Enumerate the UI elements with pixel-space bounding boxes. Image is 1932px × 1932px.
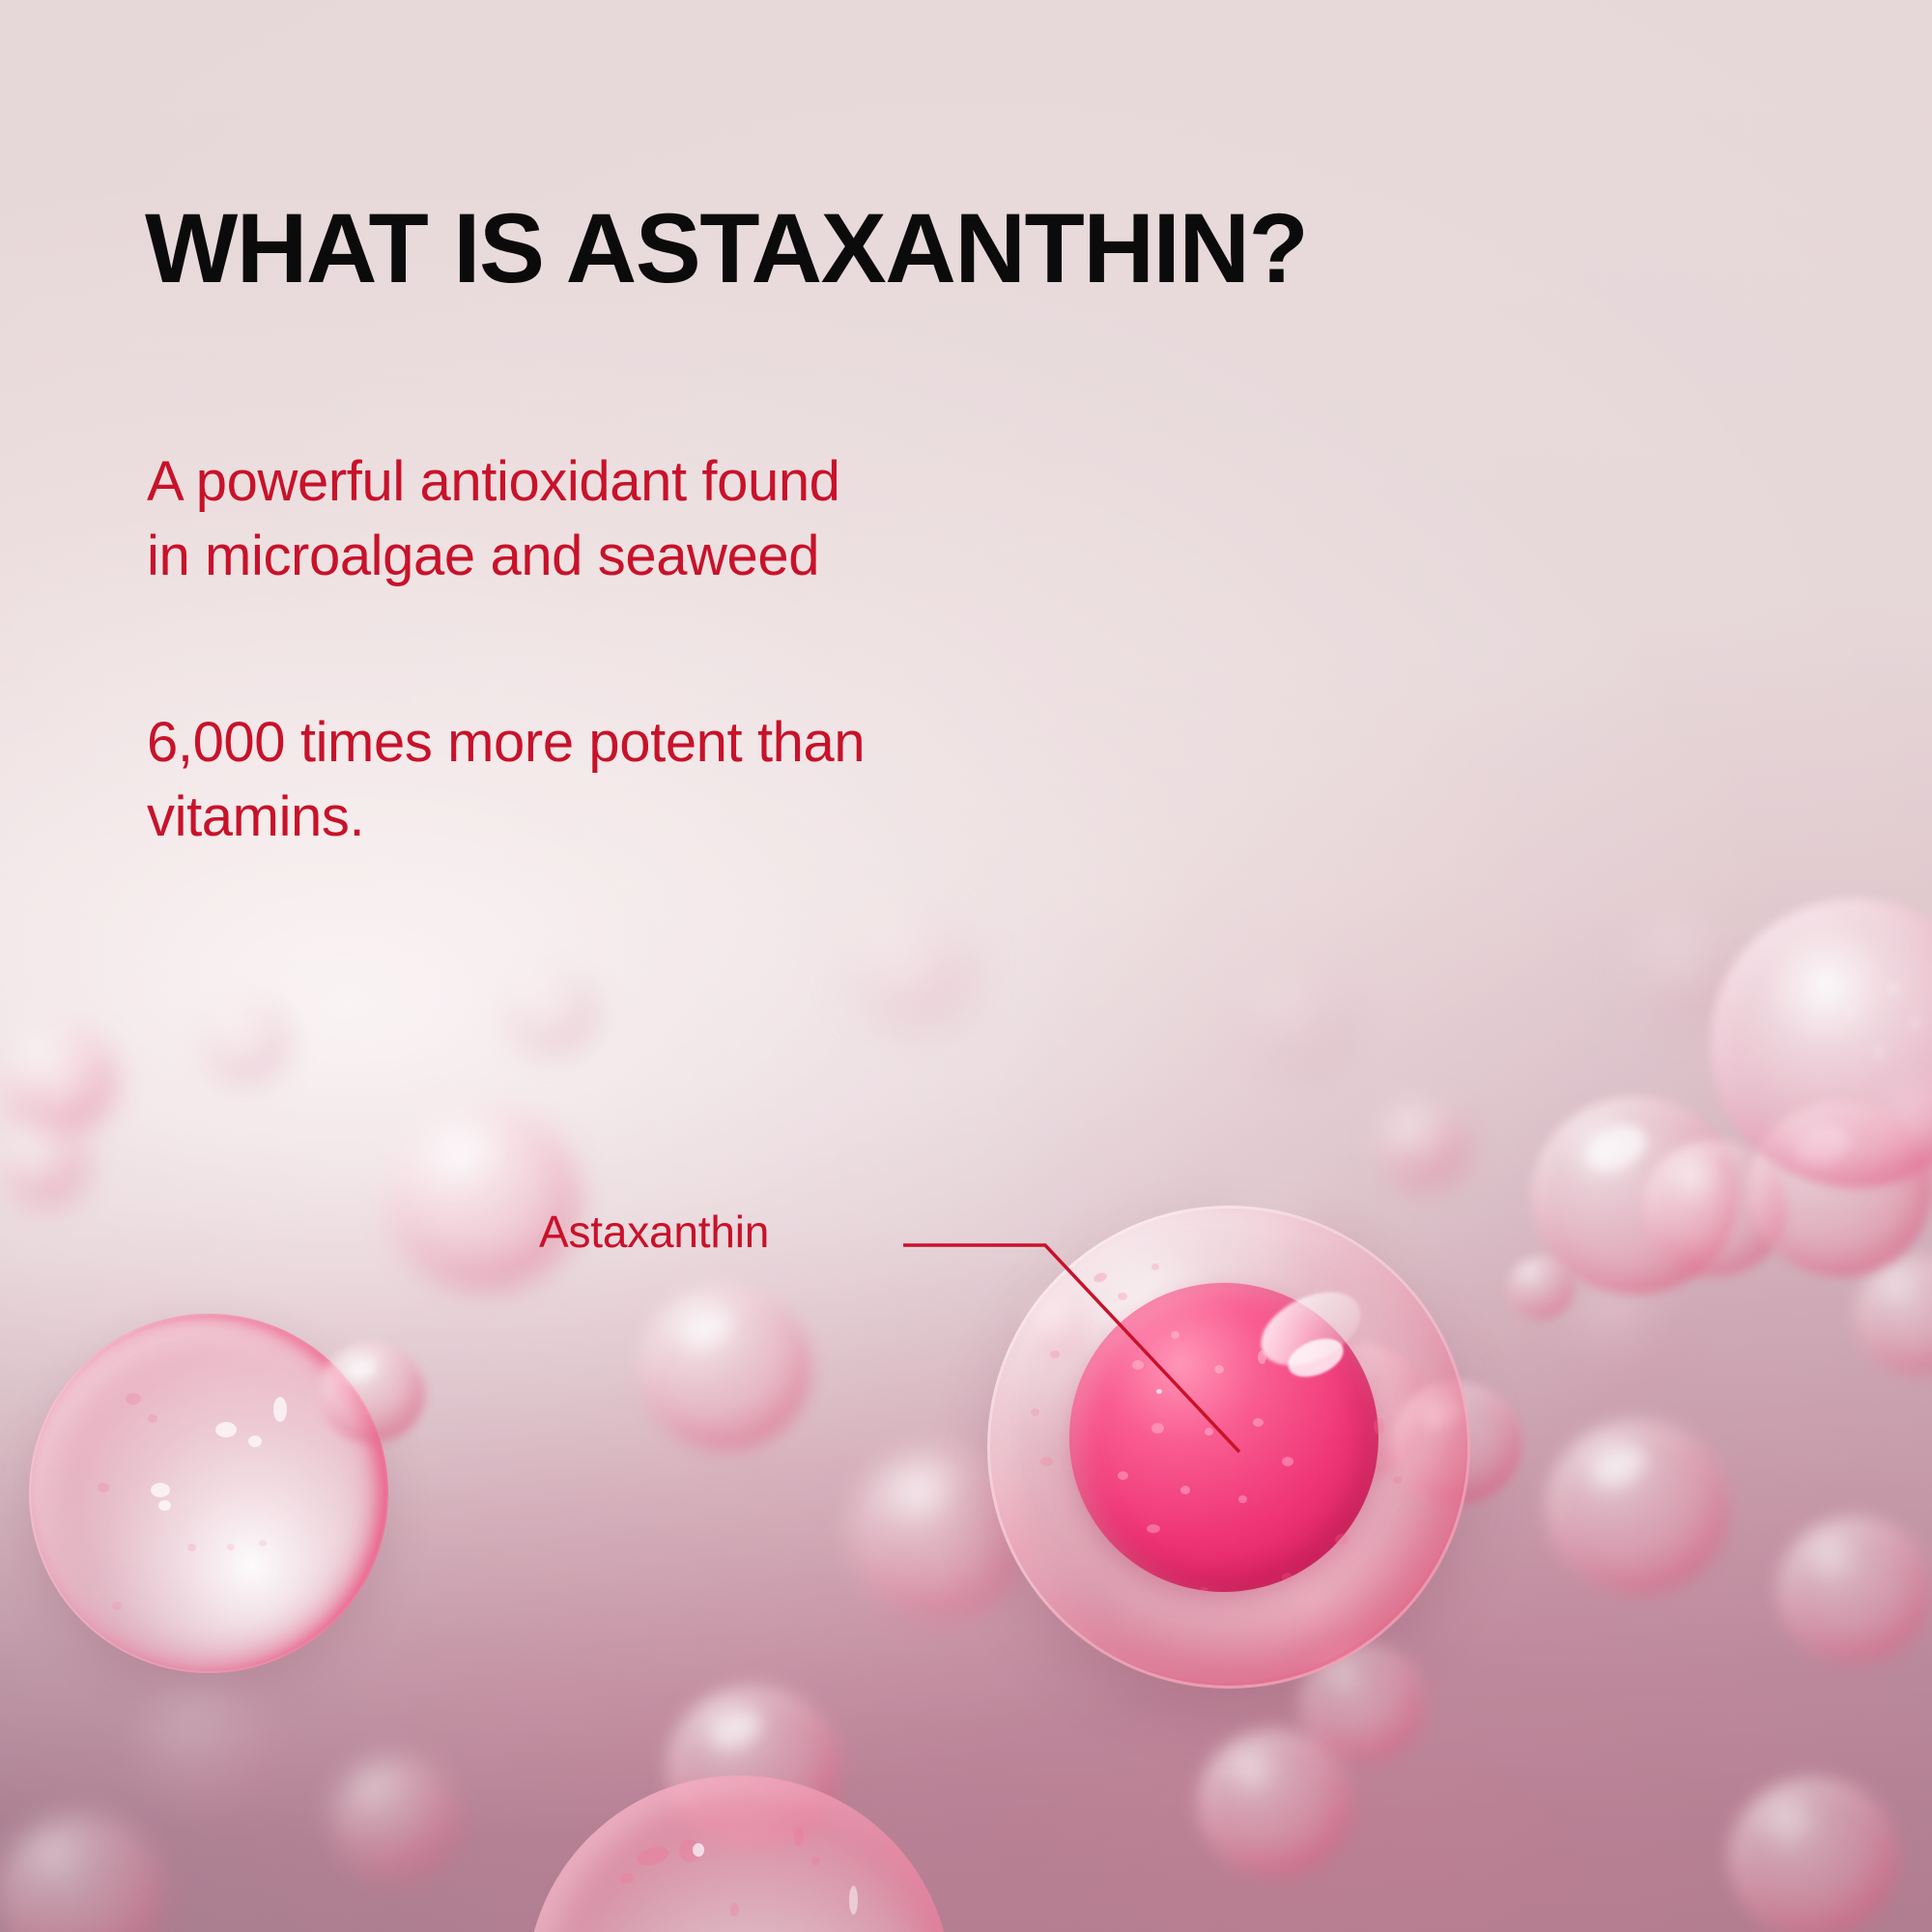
body-paragraph-1: A powerful antioxidant found in microalg… xyxy=(147,444,840,593)
infographic-card: WHAT IS ASTAXANTHIN? A powerful antioxid… xyxy=(0,0,1932,1932)
page-title: WHAT IS ASTAXANTHIN? xyxy=(145,199,1307,298)
body-paragraph-2: 6,000 times more potent than vitamins. xyxy=(147,705,865,854)
callout-label-astaxanthin: Astaxanthin xyxy=(539,1206,769,1258)
